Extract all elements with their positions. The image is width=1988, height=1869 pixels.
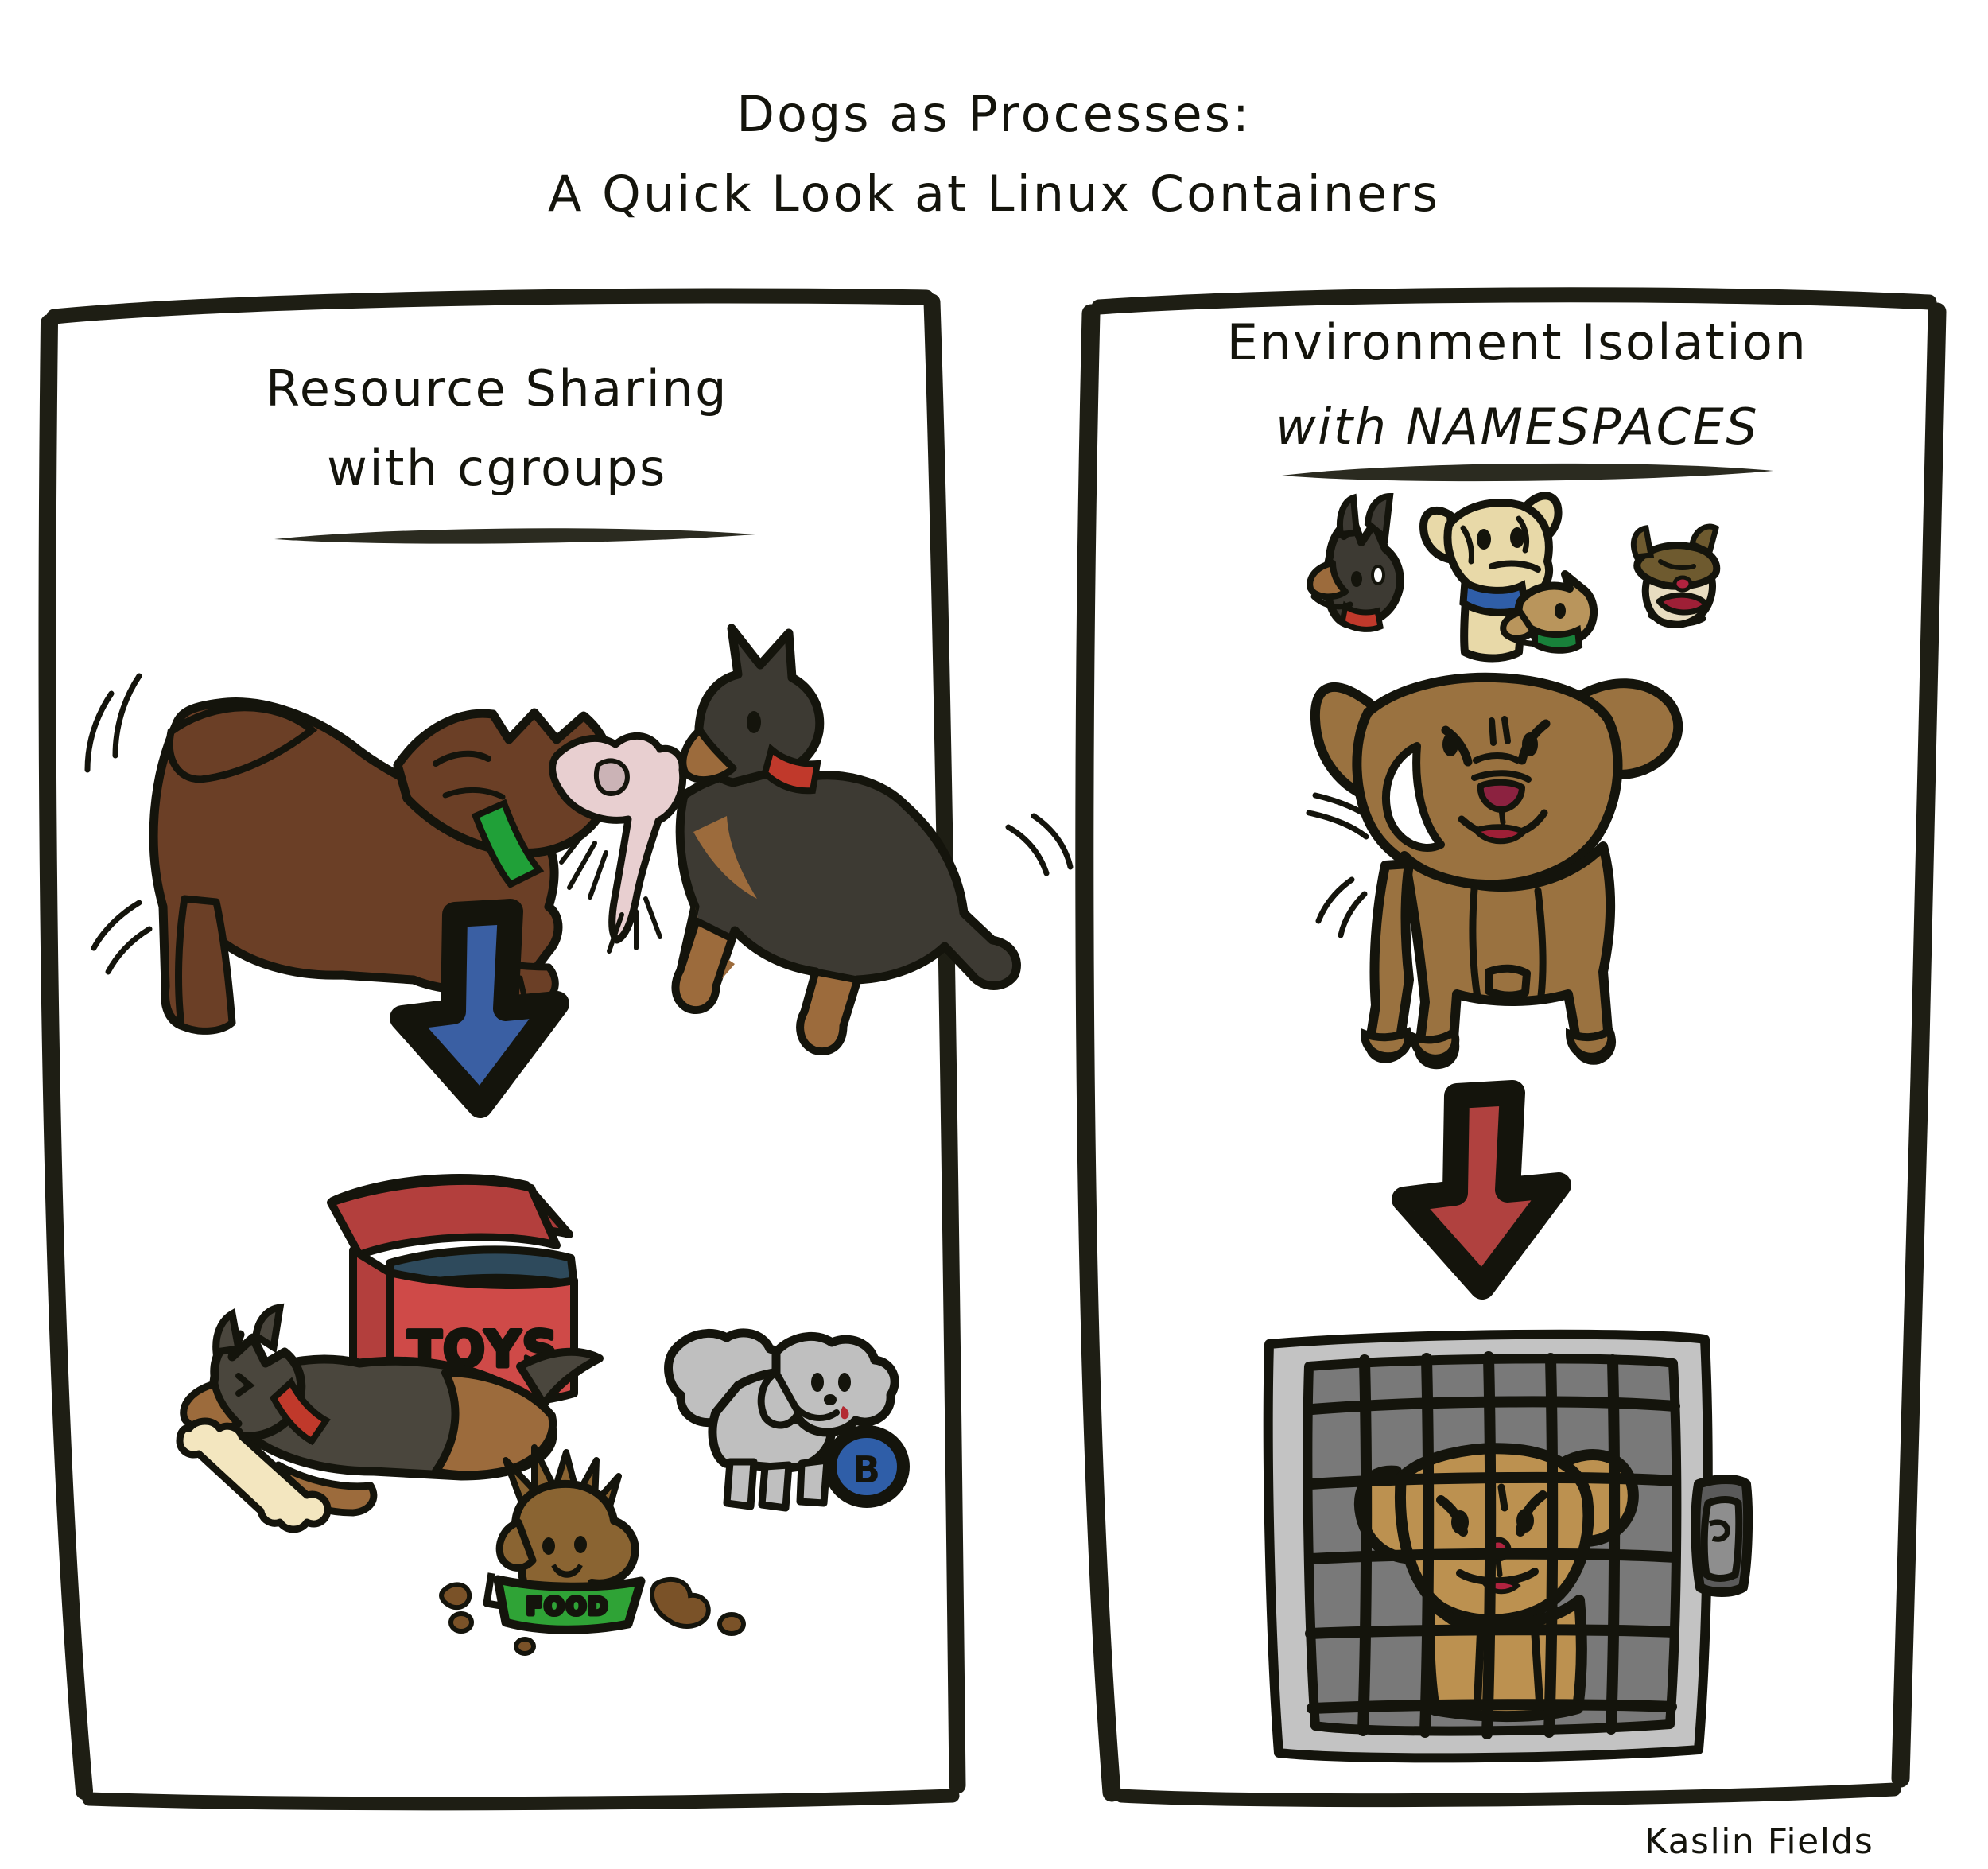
panel-cgroups-heading-line-1: Resource Sharing (266, 359, 728, 418)
title-line-2: A Quick Look at Linux Containers (548, 165, 1440, 223)
panel-namespaces-heading-line-1: Environment Isolation (1227, 313, 1808, 371)
doberman-head-collar (1342, 606, 1380, 629)
panel-namespaces-heading-line-2: with NAMESPACES (1276, 398, 1759, 456)
small-tan-dog-collar (1535, 630, 1579, 651)
blue-ball-label: B (852, 1448, 881, 1491)
scene-dog-in-crate (1268, 1335, 1748, 1758)
crate-latch[interactable] (1695, 1479, 1748, 1592)
blue-ball: B (830, 1432, 903, 1502)
comic-canvas: Dogs as Processes: A Quick Look at Linux… (0, 0, 1988, 1869)
panel-cgroups-heading-line-2: with cgroups (327, 439, 667, 497)
title-line-1: Dogs as Processes: (736, 85, 1252, 143)
food-bowl-label: FOOD (526, 1593, 609, 1621)
signature: Kaslin Fields (1644, 1821, 1873, 1862)
